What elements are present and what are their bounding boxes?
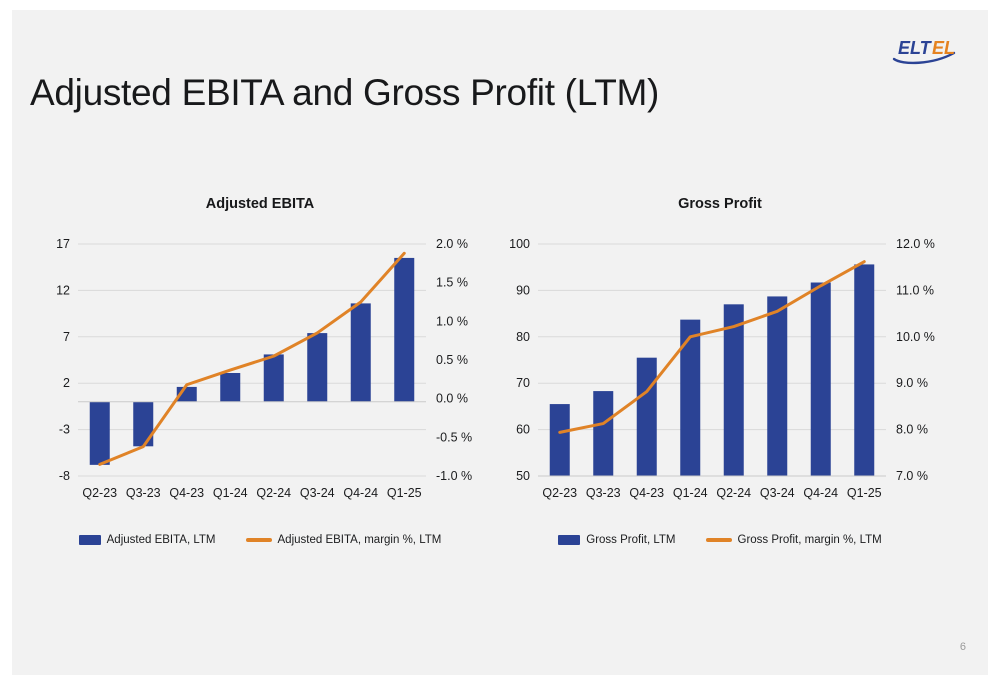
- bar: [351, 303, 371, 401]
- x-axis-tick: Q3-24: [760, 486, 795, 500]
- svg-text:EL: EL: [932, 38, 955, 58]
- bar: [767, 296, 787, 476]
- x-axis-tick: Q2-23: [542, 486, 577, 500]
- x-axis-tick: Q2-24: [716, 486, 751, 500]
- bar: [133, 402, 153, 447]
- page-number: 6: [960, 641, 966, 653]
- x-axis-tick: Q3-23: [126, 486, 161, 500]
- y-axis-tick-primary: 50: [516, 469, 530, 483]
- x-axis-tick: Q1-24: [673, 486, 708, 500]
- chart-legend: Adjusted EBITA, LTM Adjusted EBITA, marg…: [30, 534, 490, 546]
- bar: [724, 304, 744, 476]
- chart-panel-gross-profit: Gross Profit 100908070605012.0 %11.0 %10…: [490, 196, 950, 566]
- bar: [593, 391, 613, 476]
- x-axis-tick: Q4-23: [169, 486, 204, 500]
- y-axis-tick-primary: 70: [516, 376, 530, 390]
- x-axis-tick: Q4-23: [629, 486, 664, 500]
- y-axis-tick-primary: 80: [516, 330, 530, 344]
- legend-bar-swatch: [558, 535, 580, 545]
- bar: [811, 283, 831, 476]
- legend-item-line[interactable]: Adjusted EBITA, margin %, LTM: [246, 534, 442, 546]
- chart-title: Gross Profit: [490, 196, 950, 212]
- legend-item-line[interactable]: Gross Profit, margin %, LTM: [706, 534, 882, 546]
- y-axis-tick-secondary: 2.0 %: [436, 237, 468, 251]
- x-axis-tick: Q1-24: [213, 486, 248, 500]
- y-axis-tick-secondary: 11.0 %: [896, 283, 934, 297]
- x-axis-tick: Q1-25: [847, 486, 882, 500]
- y-axis-tick-primary: 17: [56, 237, 70, 251]
- y-axis-tick-primary: 60: [516, 423, 530, 437]
- y-axis-tick-primary: 100: [509, 237, 530, 251]
- bar: [680, 320, 700, 476]
- chart-panel-adjusted-ebita: Adjusted EBITA 171272-3-82.0 %1.5 %1.0 %…: [30, 196, 490, 566]
- y-axis-tick-primary: -8: [59, 469, 70, 483]
- legend-line-swatch: [246, 538, 272, 542]
- x-axis-tick: Q4-24: [343, 486, 378, 500]
- x-axis-tick: Q3-24: [300, 486, 335, 500]
- bar: [90, 402, 110, 465]
- legend-label: Adjusted EBITA, margin %, LTM: [278, 534, 442, 546]
- bar: [394, 258, 414, 402]
- chart-legend: Gross Profit, LTM Gross Profit, margin %…: [490, 534, 950, 546]
- y-axis-tick-primary: 7: [63, 330, 70, 344]
- y-axis-tick-primary: 2: [63, 376, 70, 390]
- y-axis-tick-secondary: 1.5 %: [436, 276, 468, 290]
- x-axis-tick: Q2-24: [256, 486, 291, 500]
- y-axis-tick-secondary: 0.5 %: [436, 353, 468, 367]
- y-axis-tick-primary: 12: [56, 283, 70, 297]
- legend-label: Adjusted EBITA, LTM: [107, 534, 216, 546]
- x-axis-tick: Q4-24: [803, 486, 838, 500]
- y-axis-tick-secondary: 0.0 %: [436, 392, 468, 406]
- x-axis-tick: Q3-23: [586, 486, 621, 500]
- y-axis-tick-secondary: 7.0 %: [896, 469, 928, 483]
- legend-item-bar[interactable]: Adjusted EBITA, LTM: [79, 534, 216, 546]
- y-axis-tick-secondary: 12.0 %: [896, 237, 935, 251]
- legend-bar-swatch: [79, 535, 101, 545]
- legend-line-swatch: [706, 538, 732, 542]
- y-axis-tick-secondary: -1.0 %: [436, 469, 472, 483]
- page-title: Adjusted EBITA and Gross Profit (LTM): [30, 72, 659, 114]
- y-axis-tick-primary: 90: [516, 283, 530, 297]
- bar: [307, 333, 327, 402]
- bar: [220, 373, 240, 402]
- legend-label: Gross Profit, margin %, LTM: [738, 534, 882, 546]
- legend-label: Gross Profit, LTM: [586, 534, 675, 546]
- legend-item-bar[interactable]: Gross Profit, LTM: [558, 534, 675, 546]
- chart-svg: 100908070605012.0 %11.0 %10.0 %9.0 %8.0 …: [490, 236, 950, 506]
- chart-title: Adjusted EBITA: [30, 196, 490, 212]
- bar: [264, 354, 284, 401]
- y-axis-tick-secondary: 10.0 %: [896, 330, 935, 344]
- bar: [550, 404, 570, 476]
- slide-canvas: ELT EL Adjusted EBITA and Gross Profit (…: [12, 10, 988, 675]
- bar: [854, 264, 874, 476]
- eltel-logo-icon: ELT EL: [892, 32, 970, 66]
- chart-svg: 171272-3-82.0 %1.5 %1.0 %0.5 %0.0 %-0.5 …: [30, 236, 490, 506]
- y-axis-tick-secondary: 1.0 %: [436, 314, 468, 328]
- bar: [637, 358, 657, 476]
- eltel-logo: ELT EL: [892, 32, 970, 66]
- y-axis-tick-secondary: 8.0 %: [896, 423, 928, 437]
- x-axis-tick: Q2-23: [82, 486, 117, 500]
- svg-text:ELT: ELT: [898, 38, 933, 58]
- chart-plot-area: 100908070605012.0 %11.0 %10.0 %9.0 %8.0 …: [490, 236, 950, 506]
- chart-plot-area: 171272-3-82.0 %1.5 %1.0 %0.5 %0.0 %-0.5 …: [30, 236, 490, 506]
- y-axis-tick-secondary: 9.0 %: [896, 376, 928, 390]
- x-axis-tick: Q1-25: [387, 486, 422, 500]
- y-axis-tick-secondary: -0.5 %: [436, 430, 472, 444]
- y-axis-tick-primary: -3: [59, 423, 70, 437]
